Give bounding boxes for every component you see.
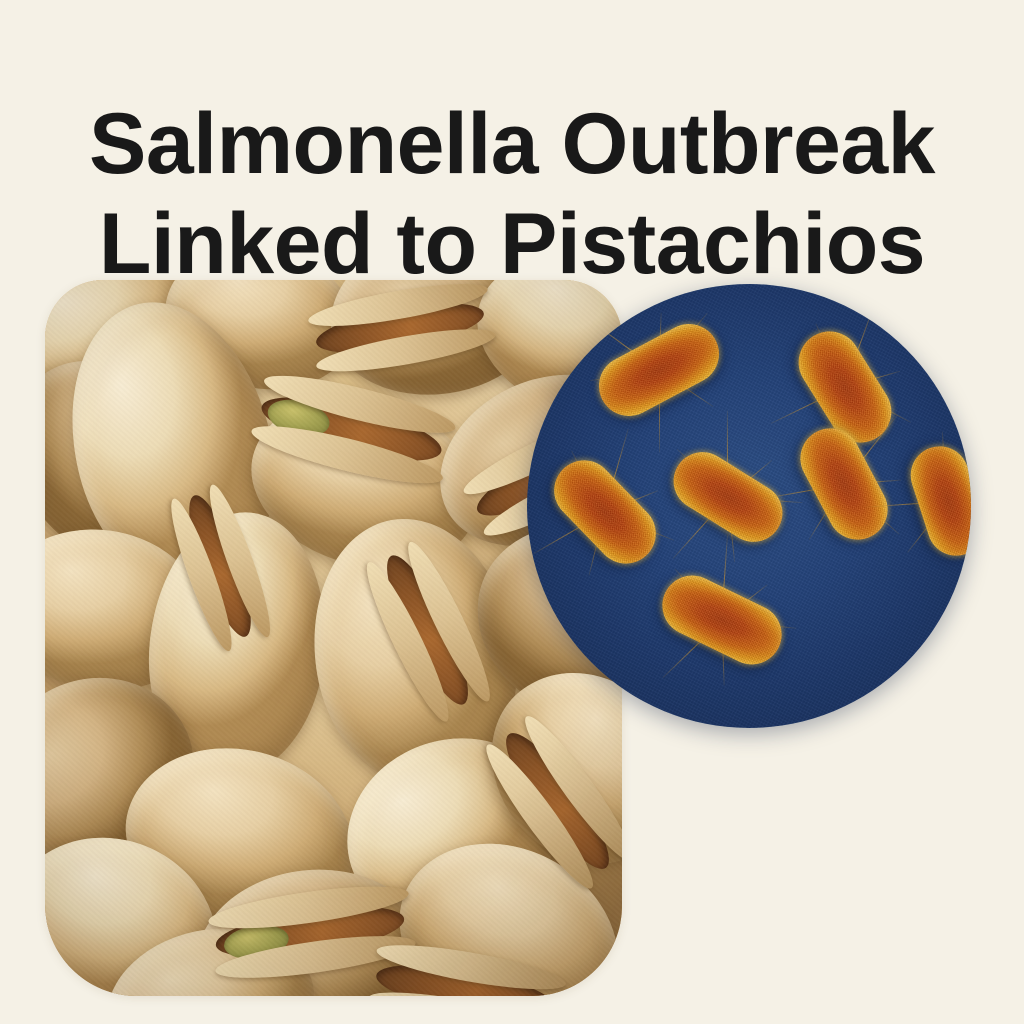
bacterium-surface-texture (903, 439, 971, 563)
bacterium-surface-texture (790, 418, 898, 550)
bacterium-surface-texture (652, 565, 792, 674)
page-title: Salmonella Outbreak Linked to Pistachios (0, 94, 1024, 294)
bacterium (542, 448, 669, 576)
headline-line-2: Linked to Pistachios (0, 194, 1024, 294)
bacterium-surface-texture (663, 441, 794, 553)
bacterium (663, 441, 794, 553)
salmonella-bacteria-circle (527, 284, 971, 728)
poster-canvas: Salmonella Outbreak Linked to Pistachios (0, 0, 1024, 1024)
headline-line-1: Salmonella Outbreak (0, 94, 1024, 194)
bacterium (652, 565, 792, 674)
bacterium (790, 418, 898, 550)
pistachio-photo-card (45, 280, 622, 996)
pistachio-split-opening (213, 897, 407, 967)
pistachio-photo-image (45, 280, 622, 996)
bacterium-surface-texture (542, 448, 669, 576)
bacterium (903, 439, 971, 563)
